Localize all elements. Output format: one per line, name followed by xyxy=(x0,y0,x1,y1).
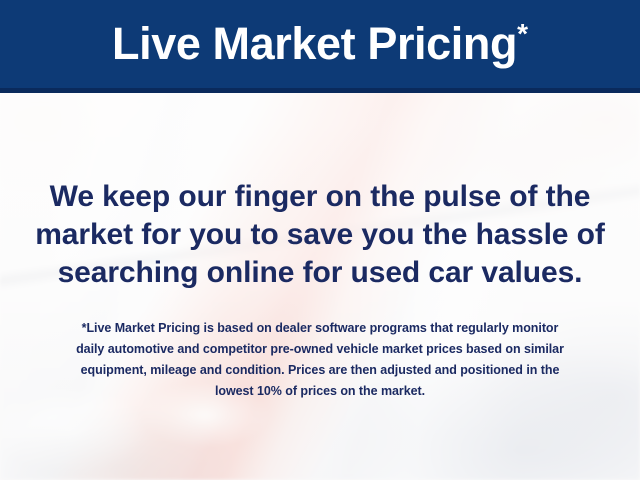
page-title-asterisk: * xyxy=(517,18,528,49)
page-title-text: Live Market Pricing xyxy=(112,18,517,69)
disclaimer-line-3: equipment, mileage and condition. Prices… xyxy=(28,360,612,381)
disclaimer-line-2: daily automotive and competitor pre-owne… xyxy=(28,339,612,360)
disclaimer-line-4: lowest 10% of prices on the market. xyxy=(28,381,612,402)
headline-line-3: searching online for used car values. xyxy=(18,254,622,292)
headline-line-2: market for you to save you the hassle of xyxy=(18,216,622,254)
header-bar: Live Market Pricing* xyxy=(0,0,640,88)
live-market-pricing-banner: Live Market Pricing* We keep our finger … xyxy=(0,0,640,480)
headline-line-1: We keep our finger on the pulse of the xyxy=(18,178,622,216)
disclaimer-line-1: *Live Market Pricing is based on dealer … xyxy=(28,318,612,339)
header-bar-bottom-edge xyxy=(0,88,640,93)
headline: We keep our finger on the pulse of the m… xyxy=(0,178,640,292)
page-title: Live Market Pricing* xyxy=(112,20,528,68)
disclaimer-fine-print: *Live Market Pricing is based on dealer … xyxy=(0,318,640,402)
